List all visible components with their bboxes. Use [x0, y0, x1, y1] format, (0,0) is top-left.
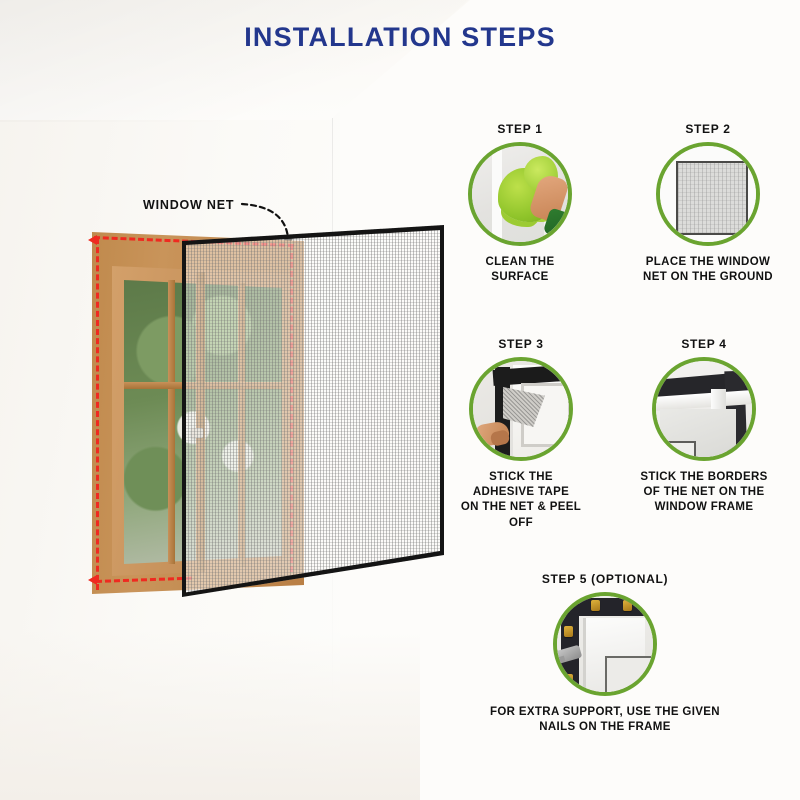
nail-icon — [564, 626, 573, 637]
step-2: STEP 2 PLACE THE WINDOW NET ON THE GROUN… — [643, 122, 773, 285]
window-net-callout-label: WINDOW NET — [143, 198, 234, 212]
step-3-image — [469, 357, 573, 461]
step-5-image — [553, 592, 657, 696]
step-5-caption: FOR EXTRA SUPPORT, USE THE GIVEN NAILS O… — [485, 705, 725, 735]
nail-icon — [564, 674, 573, 685]
step-4-title: STEP 4 — [638, 337, 770, 351]
step-5-title: STEP 5 (OPTIONAL) — [485, 572, 725, 586]
step-5: STEP 5 (OPTIONAL) FOR EXTRA SUPPORT, USE… — [485, 572, 725, 735]
step-3-caption: STICK THE ADHESIVE TAPE ON THE NET & PEE… — [457, 470, 585, 531]
step-1: STEP 1 CLEAN THE SURFACE — [460, 122, 580, 285]
step-2-image — [656, 142, 760, 246]
step-4-caption: STICK THE BORDERS OF THE NET ON THE WIND… — [638, 470, 770, 516]
step-1-caption: CLEAN THE SURFACE — [460, 255, 580, 285]
page-title: INSTALLATION STEPS — [0, 22, 800, 53]
step-2-title: STEP 2 — [643, 122, 773, 136]
floor-glow — [0, 630, 420, 800]
step-1-title: STEP 1 — [460, 122, 580, 136]
infographic-page: INSTALLATION STEPS WINDOW NET — [0, 0, 800, 800]
window-net-diagram — [86, 222, 426, 622]
step-2-caption: PLACE THE WINDOW NET ON THE GROUND — [643, 255, 773, 285]
window-mullion-vertical — [168, 280, 175, 564]
step-4-image — [652, 357, 756, 461]
nail-icon — [591, 600, 600, 611]
step-3-title: STEP 3 — [457, 337, 585, 351]
nail-icon — [623, 600, 632, 611]
step-4: STEP 4 STICK THE BORDERS OF THE NET ON T… — [638, 337, 770, 516]
step-1-image — [468, 142, 572, 246]
gray-mesh-square-icon — [676, 161, 748, 235]
step-3: STEP 3 STICK THE ADHESIVE TAPE ON THE NE… — [457, 337, 585, 531]
mesh-net-panel-icon — [182, 225, 444, 597]
